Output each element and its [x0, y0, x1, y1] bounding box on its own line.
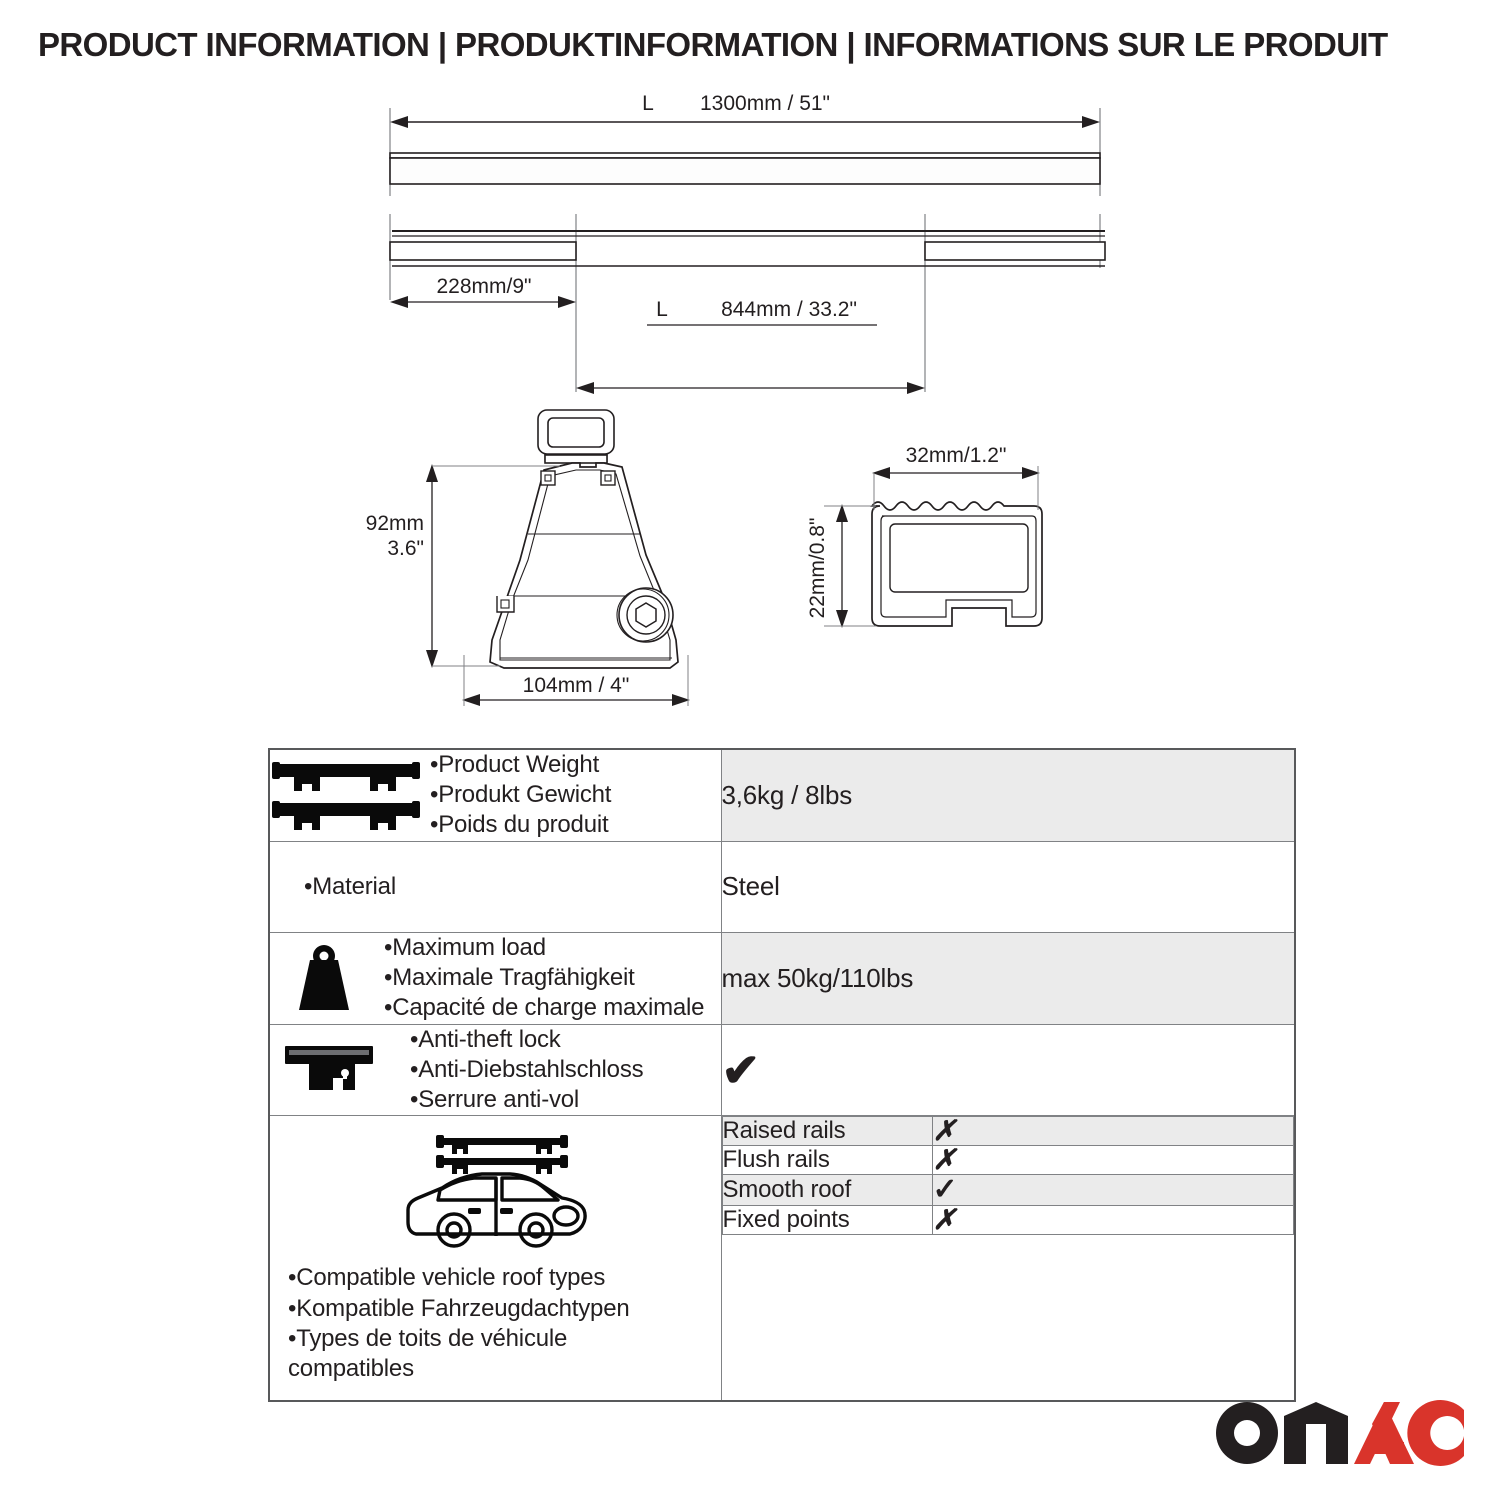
roof-type-name: Raised rails	[722, 1117, 932, 1146]
label-line: •Serrure anti-vol	[410, 1085, 721, 1115]
table-row-product-weight: •Product Weight •Produkt Gewicht •Poids …	[269, 749, 1295, 841]
roof-type-status: ✗	[932, 1206, 1294, 1235]
technical-drawing-svg: L 1300mm / 51"	[0, 0, 1500, 740]
roof-type-status: ✗	[932, 1146, 1294, 1175]
roof-type-matrix: Raised rails ✗ Flush rails ✗	[722, 1116, 1295, 1235]
label-line: •Material	[304, 872, 721, 902]
label-line: •Maximale Tragfähigkeit	[384, 963, 721, 993]
roof-type-name: Smooth roof	[722, 1175, 932, 1206]
status-badge-check: ✓	[933, 1173, 958, 1206]
label-line: compatibles	[288, 1354, 715, 1384]
omac-logo	[1214, 1398, 1464, 1468]
label-text-group-maximum-load: •Maximum load •Maximale Tragfähigkeit •C…	[384, 933, 721, 1024]
specification-table: •Product Weight •Produkt Gewicht •Poids …	[268, 748, 1296, 1402]
label-cell-anti-theft-lock: •Anti-theft lock •Anti-Diebstahlschloss …	[269, 1024, 721, 1116]
car-with-rack-icon	[284, 1132, 715, 1257]
label-cell-roof-types: •Compatible vehicle roof types •Kompatib…	[269, 1116, 721, 1401]
lock-icon	[270, 1040, 388, 1100]
profile-cross-section-group	[872, 502, 1042, 626]
foot-height-line2: 3.6"	[387, 537, 424, 560]
label-text-group-roof-types: •Compatible vehicle roof types •Kompatib…	[284, 1263, 715, 1384]
foot-span-prefix: L	[656, 298, 668, 321]
table-row-roof-types: •Compatible vehicle roof types •Kompatib…	[269, 1116, 1295, 1401]
status-badge-cross: ✗	[933, 1204, 956, 1235]
foot-span-dim-group	[576, 325, 925, 394]
foot-front-view-group	[490, 410, 678, 668]
bar-top-view-group	[390, 108, 1100, 196]
roof-type-row-flush-rails: Flush rails ✗	[722, 1146, 1294, 1175]
label-line: •Poids du produit	[430, 810, 721, 840]
roof-type-row-raised-rails: Raised rails ✗	[722, 1117, 1294, 1146]
value-product-weight: 3,6kg / 8lbs	[721, 749, 1295, 841]
profile-height-dim-group	[824, 504, 876, 628]
status-badge-check: ✔	[722, 1044, 760, 1096]
roof-type-name: Flush rails	[722, 1146, 932, 1175]
roof-type-row-smooth-roof: Smooth roof ✓	[722, 1175, 1294, 1206]
roof-type-name: Fixed points	[722, 1206, 932, 1235]
profile-height-dimension-label: 22mm/0.8"	[806, 518, 829, 619]
status-badge-cross: ✗	[933, 1115, 956, 1146]
roof-type-row-fixed-points: Fixed points ✗	[722, 1206, 1294, 1235]
label-line: •Capacité de charge maximale	[384, 993, 721, 1023]
label-cell-product-weight: •Product Weight •Produkt Gewicht •Poids …	[269, 749, 721, 841]
label-text-group-anti-theft-lock: •Anti-theft lock •Anti-Diebstahlschloss …	[410, 1025, 721, 1116]
label-cell-maximum-load: •Maximum load •Maximale Tragfähigkeit •C…	[269, 932, 721, 1024]
label-text-group-product-weight: •Product Weight •Produkt Gewicht •Poids …	[430, 750, 721, 841]
foot-offset-dimension-label: 228mm/9"	[437, 275, 532, 298]
value-anti-theft-lock: ✔	[721, 1024, 1295, 1116]
label-line: •Types de toits de véhicule	[288, 1324, 715, 1354]
crossbar-pair-icon	[270, 758, 420, 832]
foot-height-line1: 92mm	[366, 512, 424, 535]
table-row-material: •Material Steel	[269, 841, 1295, 932]
foot-width-dimension-label: 104mm / 4"	[523, 674, 630, 697]
technical-drawing-area: L 1300mm / 51"	[0, 0, 1500, 740]
roof-type-status: ✓	[932, 1175, 1294, 1206]
bar-length-value: 1300mm / 51"	[700, 92, 830, 115]
profile-width-dimension-label: 32mm/1.2"	[906, 444, 1007, 467]
label-cell-material: •Material	[269, 841, 721, 932]
table-row-anti-theft-lock: •Anti-theft lock •Anti-Diebstahlschloss …	[269, 1024, 1295, 1116]
label-line: •Product Weight	[430, 750, 721, 780]
product-information-sheet: PRODUCT INFORMATION | PRODUKTINFORMATION…	[0, 0, 1500, 1500]
weight-icon	[270, 940, 378, 1016]
roof-type-status: ✗	[932, 1117, 1294, 1146]
label-line: •Anti-Diebstahlschloss	[410, 1055, 721, 1085]
label-line: •Produkt Gewicht	[430, 780, 721, 810]
label-line: •Maximum load	[384, 933, 721, 963]
foot-span-value: 844mm / 33.2"	[721, 298, 857, 321]
status-badge-cross: ✗	[933, 1144, 956, 1175]
label-line: •Anti-theft lock	[410, 1025, 721, 1055]
table-row-maximum-load: •Maximum load •Maximale Tragfähigkeit •C…	[269, 932, 1295, 1024]
omac-logo-mark	[1214, 1398, 1464, 1468]
roof-type-matrix-cell: Raised rails ✗ Flush rails ✗	[721, 1116, 1295, 1401]
label-line: •Compatible vehicle roof types	[288, 1263, 715, 1293]
value-maximum-load: max 50kg/110lbs	[721, 932, 1295, 1024]
bar-length-prefix: L	[642, 92, 654, 115]
label-line: •Kompatible Fahrzeugdachtypen	[288, 1294, 715, 1324]
value-material: Steel	[721, 841, 1295, 932]
